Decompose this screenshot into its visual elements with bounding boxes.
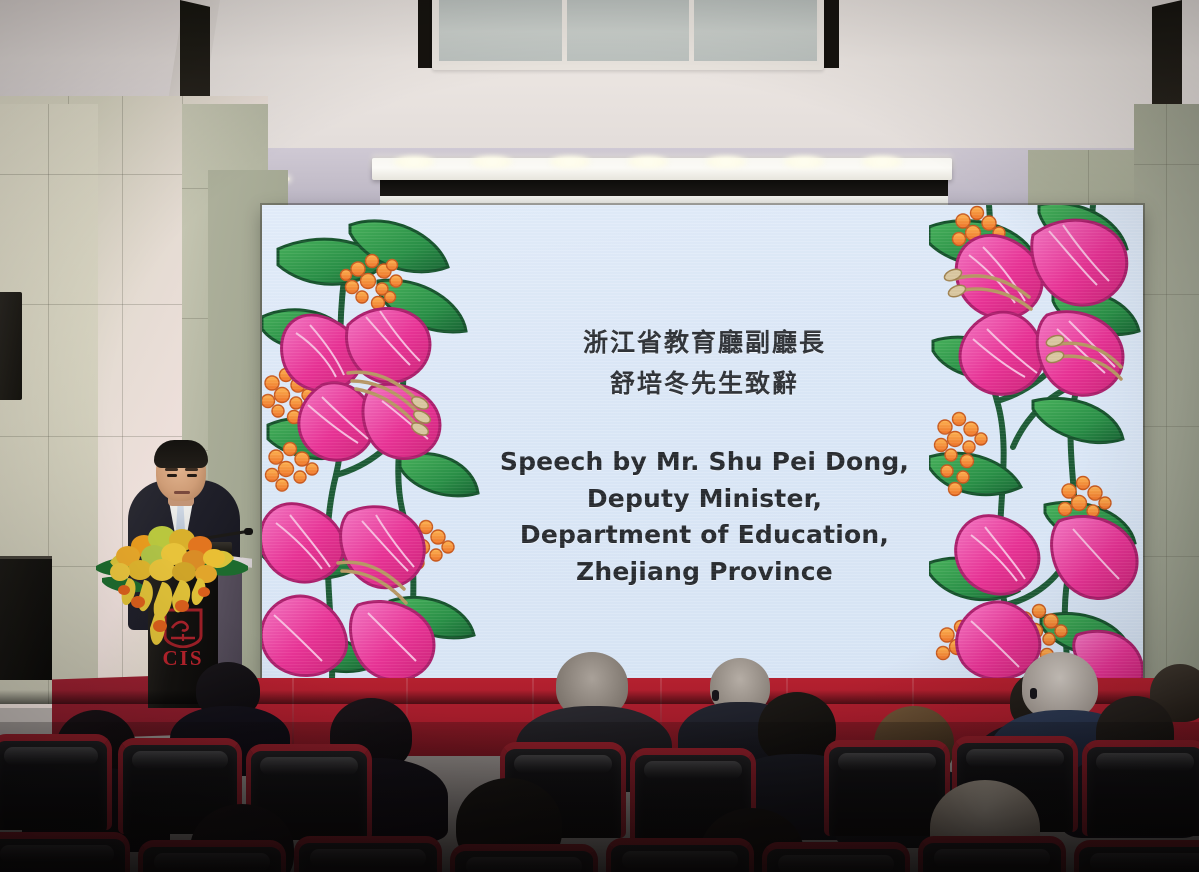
speaker-eyebrow-right xyxy=(185,468,198,471)
ceiling-recess-shadow-right xyxy=(822,0,839,68)
audience-foreground-shadow xyxy=(0,722,1199,872)
pelmet-lamp-icon xyxy=(704,155,748,169)
speaker-hair xyxy=(154,440,208,468)
pelmet-lamp-icon xyxy=(626,155,670,169)
pelmet-lamp-icon xyxy=(860,155,904,169)
pelmet-lamp-icon xyxy=(548,155,592,169)
speaker-eyebrow-left xyxy=(165,468,178,471)
ceiling-vent-panel xyxy=(432,0,824,70)
pelmet-lamp-icon xyxy=(782,155,826,169)
wall-right xyxy=(1134,104,1199,724)
vent-grille-segment xyxy=(567,0,690,61)
led-presentation-screen: 浙江省教育廳副廳長 舒培冬先生致辭 Speech by Mr. Shu Pei … xyxy=(262,205,1143,681)
wall-tile-grid xyxy=(1134,104,1199,724)
vent-grille-segment xyxy=(439,0,562,61)
conference-hall-photo: 浙江省教育廳副廳長 舒培冬先生致辭 Speech by Mr. Shu Pei … xyxy=(0,0,1199,872)
speaker-eye-right xyxy=(187,474,197,477)
vent-grille-segment xyxy=(694,0,817,61)
speaker-mouth xyxy=(174,491,190,494)
translation-earpiece-icon xyxy=(712,690,719,701)
screen-scanline-overlay xyxy=(262,205,1143,681)
audience-area xyxy=(0,640,1199,872)
speaker-eye-left xyxy=(167,474,177,477)
pelmet-lamp-icon xyxy=(392,155,436,169)
pelmet-lamp-icon xyxy=(470,155,514,169)
flower-bouquet xyxy=(94,516,250,648)
wall-mounted-speaker xyxy=(0,292,22,400)
translation-earpiece-icon xyxy=(1030,688,1037,699)
